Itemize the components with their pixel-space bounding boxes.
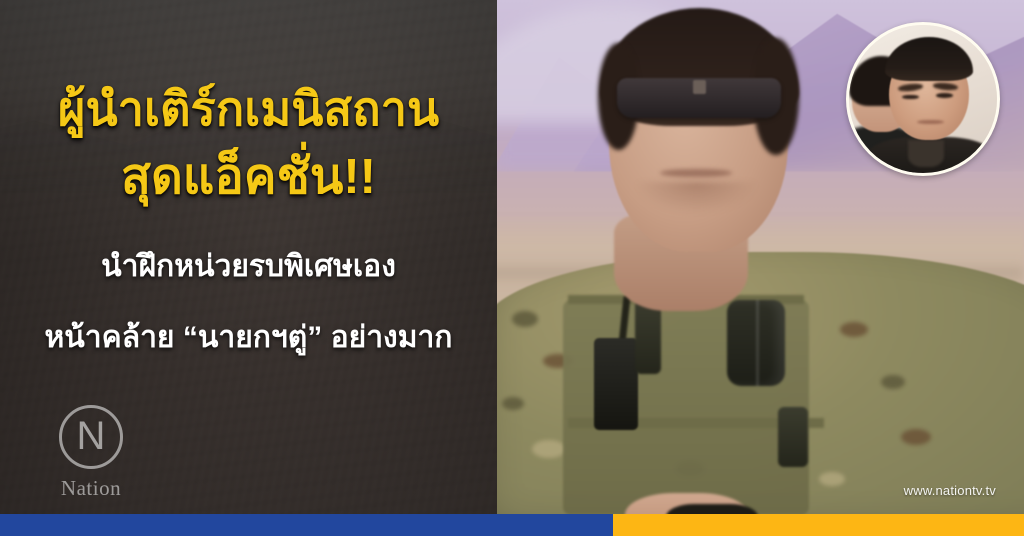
headline-line-2: สุดแอ็คชั่น!! — [0, 152, 497, 204]
nation-logo-wordmark: Nation — [36, 476, 146, 501]
camo-pattern-spot — [532, 440, 566, 458]
website-url-watermark: www.nationtv.tv — [904, 483, 996, 498]
camo-pattern-spot — [819, 472, 845, 486]
inset-person-collar — [908, 140, 944, 167]
inset-person-eye — [902, 95, 918, 100]
chin-shadow — [635, 182, 758, 214]
binoculars — [727, 300, 785, 386]
camo-pattern-spot — [840, 322, 868, 337]
magazine-pouch — [778, 407, 808, 467]
headline-line-1: ผู้นำเติร์กเมนิสถาน — [0, 84, 497, 134]
news-graphic-card: ผู้นำเติร์กเมนิสถาน สุดแอ็คชั่น!! นำฝึกห… — [0, 0, 1024, 536]
subheadline-line-2: หน้าคล้าย “นายกฯตู่” อย่างมาก — [0, 314, 497, 361]
brand-bar-gold-segment — [613, 514, 1024, 536]
camo-pattern-spot — [901, 429, 931, 445]
nation-logo-letter: N — [77, 416, 106, 456]
handheld-radio — [594, 338, 638, 430]
nation-logo: N Nation — [36, 405, 146, 501]
camo-pattern-spot — [512, 311, 538, 327]
magazine-pouch — [635, 300, 661, 374]
nation-circle-n-logo-icon: N — [59, 405, 123, 469]
camo-pattern-spot — [881, 375, 905, 389]
brand-bar-blue-segment — [0, 514, 613, 536]
sunglasses — [617, 78, 781, 118]
camo-pattern-spot — [502, 397, 524, 410]
subheadline-line-1: นำฝึกหน่วยรบพิเศษเอง — [0, 243, 497, 290]
inset-portrait-prayut — [846, 22, 1000, 176]
bottom-brand-bar — [0, 514, 1024, 536]
inset-person-mouth — [917, 120, 944, 124]
inset-person-eye — [936, 93, 952, 98]
